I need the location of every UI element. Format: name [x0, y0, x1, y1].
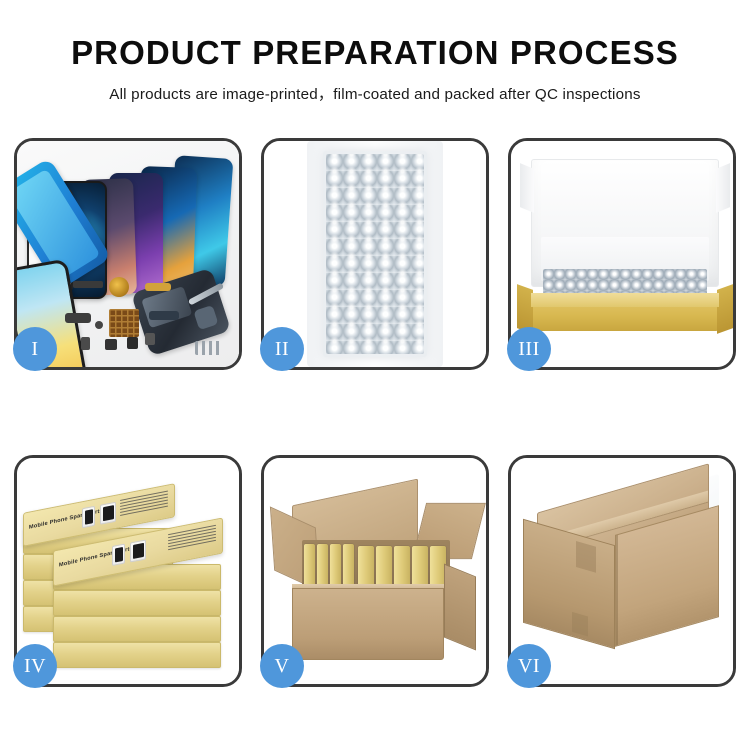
process-step-2: II [261, 138, 489, 370]
bubble-wrap-icon [323, 151, 427, 357]
bubble-highlight [326, 154, 424, 354]
flex-cable-icon [65, 313, 91, 323]
page-subtitle: All products are image-printed，film-coat… [0, 82, 750, 104]
product-preparation-page: PRODUCT PREPARATION PROCESS All products… [0, 0, 750, 750]
spec-list-print [168, 525, 216, 551]
page-title: PRODUCT PREPARATION PROCESS [0, 34, 750, 72]
process-step-3: III [508, 138, 736, 370]
process-step-5: V [261, 455, 489, 687]
flex-cable-icon [145, 283, 171, 291]
process-step-6: VI [508, 455, 736, 687]
circuit-board-icon [109, 309, 139, 337]
copper-coil-icon [109, 277, 129, 297]
step-badge-1: I [13, 327, 57, 371]
flex-cable-icon [73, 281, 103, 288]
small-component-icon [145, 333, 155, 345]
phone-print-icon [100, 502, 116, 525]
carton-flap-seam [572, 612, 588, 637]
box-stack: Mobile Phone Spare Parts Mobile Phone Sp… [23, 476, 237, 672]
step-badge-2: II [260, 327, 304, 371]
carton-side-face [444, 564, 476, 651]
carton-front-face [292, 588, 444, 660]
screws-icon [195, 341, 221, 355]
step-badge-6: VI [507, 644, 551, 688]
phone-print-icon [112, 544, 125, 567]
stacked-box-icon [53, 590, 221, 616]
step-badge-4: IV [13, 644, 57, 688]
small-component-icon [105, 339, 117, 350]
small-component-icon [81, 337, 90, 350]
open-carton-icon [278, 484, 474, 660]
stacked-box-icon [53, 616, 221, 642]
small-component-icon [95, 321, 103, 329]
phone-print-icon [82, 506, 95, 529]
step-badge-3: III [507, 327, 551, 371]
carton-edge-seam [616, 535, 618, 646]
process-step-grid: I II III [14, 138, 736, 687]
carton-flap-seam [576, 541, 596, 573]
small-component-icon [127, 337, 138, 349]
process-step-1: I [14, 138, 242, 370]
stacked-box-icon [53, 642, 221, 668]
step-badge-5: V [260, 644, 304, 688]
process-step-4: Mobile Phone Spare Parts Mobile Phone Sp… [14, 455, 242, 687]
flex-cable-icon [149, 311, 179, 320]
page-header: PRODUCT PREPARATION PROCESS All products… [0, 0, 750, 104]
kraft-box-front-icon [531, 293, 719, 307]
phone-print-icon [130, 539, 146, 562]
sealed-carton-icon [523, 488, 723, 660]
spec-list-print [120, 491, 168, 517]
